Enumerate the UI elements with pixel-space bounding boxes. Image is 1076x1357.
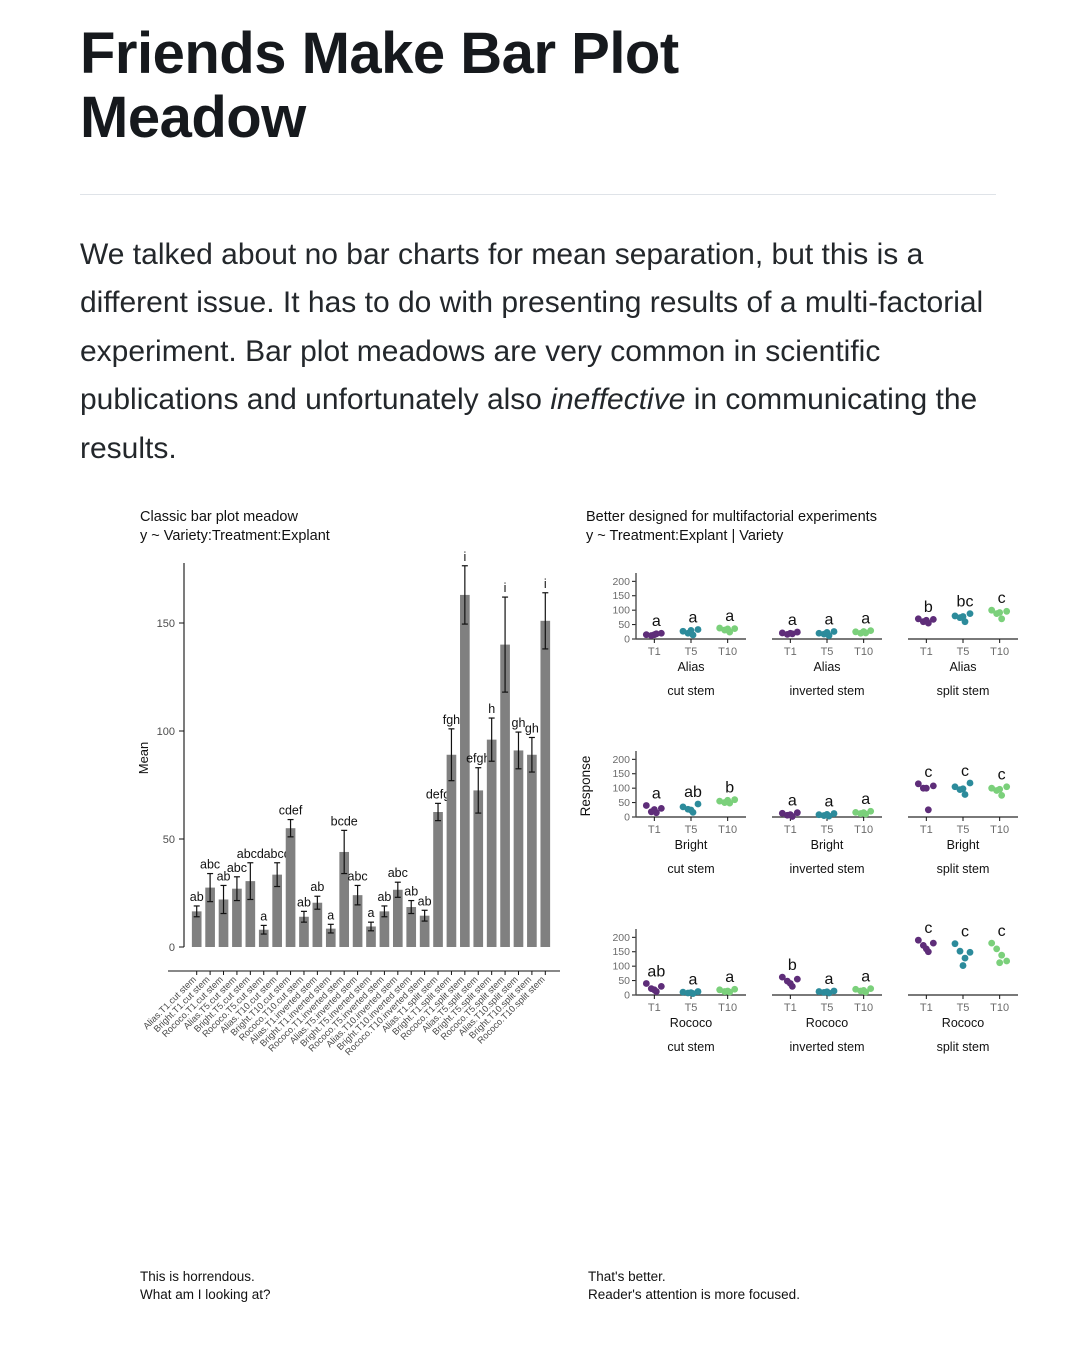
significance-letter: b (725, 779, 734, 796)
y-tick-label: 100 (612, 782, 630, 794)
data-point (996, 609, 1003, 616)
x-tick-label: T1 (920, 646, 933, 658)
y-tick-label: 0 (624, 633, 630, 645)
x-tick-label: T1 (648, 1002, 661, 1014)
data-point (962, 791, 969, 798)
data-point (867, 985, 874, 992)
panel-strip-variety: Bright (947, 838, 980, 852)
bar (393, 889, 403, 946)
bar (460, 595, 470, 947)
x-tick-label: T5 (821, 646, 834, 658)
significance-letter: c (998, 923, 1006, 940)
bar (286, 828, 296, 947)
data-point (658, 983, 665, 990)
significance-letter: a (368, 906, 375, 920)
x-tick-label: T10 (990, 824, 1009, 836)
x-tick-label: T1 (920, 1002, 933, 1014)
x-tick-label: T5 (957, 824, 970, 836)
data-point (962, 954, 969, 961)
bar (487, 739, 497, 946)
data-point (724, 625, 731, 632)
data-point (651, 986, 658, 993)
data-point (996, 959, 1003, 966)
significance-letter: abcd (237, 846, 264, 860)
panel-strip-variety: Alias (813, 660, 840, 674)
significance-letter: c (961, 763, 969, 780)
data-point (787, 980, 794, 987)
chart-title-left: Classic bar plot meadow y ~ Variety:Trea… (140, 508, 562, 547)
data-point (1003, 783, 1010, 790)
panel-strip-explant: cut stem (667, 684, 714, 698)
significance-letter: c (998, 766, 1006, 783)
y-tick-label: 200 (612, 754, 630, 766)
significance-letter: bcde (331, 814, 358, 828)
data-point (831, 628, 838, 635)
data-point (988, 939, 995, 946)
y-tick-label: 50 (618, 975, 630, 987)
y-tick-label: 0 (169, 942, 175, 954)
panel-strip-variety: Bright (811, 838, 844, 852)
bar (514, 750, 524, 947)
x-tick-label: T10 (854, 824, 873, 836)
x-tick-label: T1 (784, 646, 797, 658)
significance-letter: b (924, 599, 933, 616)
significance-letter: ab (684, 784, 702, 801)
significance-letter: a (260, 909, 267, 923)
y-tick-label: 0 (624, 989, 630, 1001)
significance-letter: abc (388, 866, 408, 880)
significance-letter: a (725, 608, 734, 625)
panel-strip-variety: Rococo (806, 1016, 848, 1030)
data-point (960, 613, 967, 620)
caption-right: That's better. Reader's attention is mor… (588, 1268, 800, 1304)
y-tick-label: 150 (157, 618, 175, 630)
significance-letter: b (788, 957, 797, 974)
data-point (957, 947, 964, 954)
x-tick-label: T5 (685, 824, 698, 836)
significance-letter: a (825, 611, 834, 628)
article-page: Friends Make Bar Plot Meadow We talked a… (0, 22, 1076, 1128)
y-tick-label: 150 (612, 590, 630, 602)
significance-letter: a (788, 792, 797, 809)
significance-letter: c (924, 764, 932, 781)
data-point (998, 615, 1005, 622)
figure-classic-bar-meadow: Classic bar plot meadow y ~ Variety:Trea… (132, 508, 562, 1107)
data-point (724, 987, 731, 994)
data-point (688, 627, 695, 634)
significance-letter: a (861, 610, 870, 627)
x-tick-label: T1 (784, 824, 797, 836)
data-point (658, 805, 665, 812)
figure-row: Classic bar plot meadow y ~ Variety:Trea… (80, 508, 996, 1128)
y-tick-label: 150 (612, 768, 630, 780)
x-tick-label: T5 (957, 646, 970, 658)
significance-letter: a (861, 968, 870, 985)
data-point (960, 785, 967, 792)
significance-letter: a (689, 609, 698, 626)
panel-strip-explant: split stem (937, 862, 990, 876)
y-tick-label: 50 (163, 834, 175, 846)
data-point (867, 627, 874, 634)
y-tick-label: 50 (618, 619, 630, 631)
x-tick-label: T10 (718, 1002, 737, 1014)
significance-letter: c (998, 590, 1006, 607)
x-tick-label: T10 (990, 646, 1009, 658)
data-point (695, 800, 702, 807)
panel-strip-explant: inverted stem (789, 684, 864, 698)
data-point (923, 617, 930, 624)
x-tick-label: T10 (854, 1002, 873, 1014)
data-point (998, 792, 1005, 799)
x-tick-label: T10 (718, 824, 737, 836)
y-axis-title: Mean (136, 741, 151, 774)
classic-bar-chart: 050100150Meanababcababcabcdaabcdcdefabab… (132, 547, 562, 1107)
x-tick-label: T5 (821, 824, 834, 836)
data-point (831, 810, 838, 817)
significance-letter: ab (377, 890, 391, 904)
bar (447, 754, 457, 946)
significance-letter: i (544, 576, 547, 590)
data-point (824, 811, 831, 818)
panel-strip-explant: inverted stem (789, 1040, 864, 1054)
data-point (1003, 957, 1010, 964)
data-point (930, 616, 937, 623)
panel-strip-explant: split stem (937, 684, 990, 698)
panel-strip-variety: Rococo (942, 1016, 984, 1030)
significance-letter: ab (418, 894, 432, 908)
title-divider (80, 194, 996, 195)
data-point (998, 951, 1005, 958)
panel-strip-variety: Rococo (670, 1016, 712, 1030)
article-body-emphasis: ineffective (550, 383, 685, 416)
y-tick-label: 200 (612, 576, 630, 588)
data-point (923, 784, 930, 791)
significance-letter: defg (426, 787, 450, 801)
article-body: We talked about no bar charts for mean s… (80, 231, 996, 474)
data-point (695, 988, 702, 995)
figure-better-design: Better designed for multifactorial exper… (578, 508, 1076, 1107)
panel-strip-variety: Alias (949, 660, 976, 674)
data-point (930, 782, 937, 789)
data-point (787, 811, 794, 818)
x-tick-label: T1 (648, 824, 661, 836)
data-point (688, 806, 695, 813)
significance-letter: a (689, 971, 698, 988)
significance-letter: a (861, 791, 870, 808)
panel-strip-explant: inverted stem (789, 862, 864, 876)
data-point (930, 939, 937, 946)
x-tick-label: T5 (821, 1002, 834, 1014)
data-point (967, 949, 974, 956)
x-tick-label: T10 (854, 646, 873, 658)
bar (473, 790, 483, 947)
significance-letter: a (825, 793, 834, 810)
data-point (925, 806, 932, 813)
chart-title-right: Better designed for multifactorial exper… (586, 508, 1076, 547)
significance-letter: bc (957, 593, 974, 610)
bar (540, 621, 550, 947)
data-point (731, 986, 738, 993)
x-tick-label: T5 (957, 1002, 970, 1014)
y-axis-title: Response (578, 755, 593, 816)
significance-letter: a (327, 908, 334, 922)
x-tick-label: T10 (718, 646, 737, 658)
significance-letter: ab (310, 880, 324, 894)
data-point (860, 809, 867, 816)
faceted-scatter-chart: Response050100150200T1aT5aT10aAliascut s… (578, 547, 1018, 1107)
x-tick-label: T5 (685, 646, 698, 658)
panel-strip-variety: Bright (675, 838, 708, 852)
significance-letter: fgh (443, 713, 460, 727)
y-tick-label: 50 (618, 797, 630, 809)
data-point (688, 989, 695, 996)
data-point (794, 809, 801, 816)
data-point (731, 796, 738, 803)
y-tick-label: 100 (612, 604, 630, 616)
data-point (952, 940, 959, 947)
panel-strip-explant: cut stem (667, 862, 714, 876)
page-title: Friends Make Bar Plot Meadow (80, 22, 920, 150)
significance-letter: a (725, 969, 734, 986)
significance-letter: a (652, 785, 661, 802)
significance-letter: abc (348, 869, 368, 883)
significance-letter: h (488, 702, 495, 716)
significance-letter: a (825, 971, 834, 988)
data-point (695, 626, 702, 633)
x-tick-label: T10 (990, 1002, 1009, 1014)
data-point (794, 628, 801, 635)
data-point (867, 808, 874, 815)
data-point (724, 797, 731, 804)
data-point (996, 786, 1003, 793)
significance-letter: gh (525, 721, 539, 735)
data-point (731, 625, 738, 632)
data-point (787, 630, 794, 637)
significance-letter: ab (190, 890, 204, 904)
significance-letter: c (961, 923, 969, 940)
x-tick-label: T1 (784, 1002, 797, 1014)
data-point (860, 987, 867, 994)
x-tick-label: T1 (648, 646, 661, 658)
significance-letter: ab (647, 963, 665, 980)
data-point (960, 962, 967, 969)
data-point (967, 779, 974, 786)
significance-letter: cdef (279, 803, 303, 817)
bar (433, 812, 443, 947)
data-point (923, 945, 930, 952)
data-point (1003, 608, 1010, 615)
significance-letter: a (788, 612, 797, 629)
significance-letter: i (504, 581, 507, 595)
panel-strip-variety: Alias (677, 660, 704, 674)
y-tick-label: 0 (624, 811, 630, 823)
data-point (824, 629, 831, 636)
data-point (831, 987, 838, 994)
data-point (651, 631, 658, 638)
data-point (860, 628, 867, 635)
y-tick-label: 200 (612, 932, 630, 944)
significance-letter: abc (227, 860, 247, 874)
x-tick-label: T1 (920, 824, 933, 836)
caption-left: This is horrendous. What am I looking at… (140, 1268, 271, 1304)
data-point (993, 945, 1000, 952)
significance-letter: c (924, 920, 932, 937)
significance-letter: a (652, 613, 661, 630)
panel-strip-explant: split stem (937, 1040, 990, 1054)
significance-letter: efgh (466, 751, 490, 765)
x-tick-label: T5 (685, 1002, 698, 1014)
y-tick-label: 100 (157, 726, 175, 738)
significance-letter: gh (512, 716, 526, 730)
data-point (967, 610, 974, 617)
significance-letter: ab (297, 895, 311, 909)
data-point (643, 802, 650, 809)
data-point (651, 806, 658, 813)
significance-letter: ab (404, 884, 418, 898)
data-point (824, 988, 831, 995)
data-point (794, 975, 801, 982)
data-point (643, 980, 650, 987)
panel-strip-explant: cut stem (667, 1040, 714, 1054)
bar (527, 754, 537, 946)
data-point (658, 630, 665, 637)
significance-letter: i (463, 549, 466, 563)
y-tick-label: 100 (612, 960, 630, 972)
data-point (915, 936, 922, 943)
y-tick-label: 150 (612, 946, 630, 958)
